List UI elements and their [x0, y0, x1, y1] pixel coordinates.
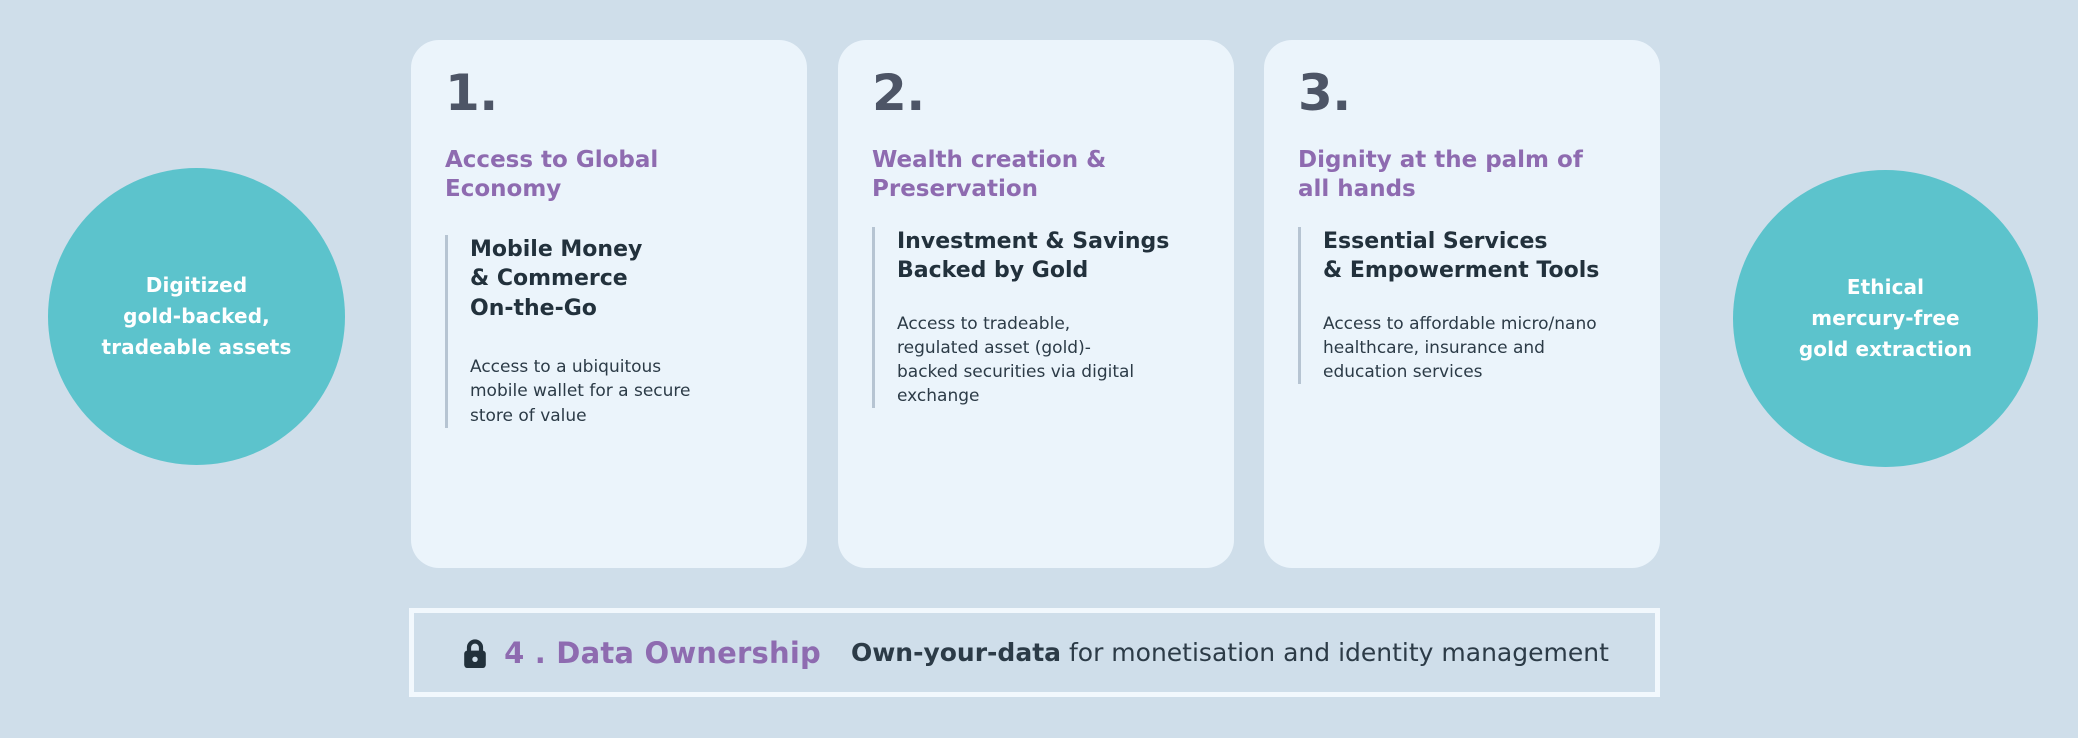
pillar-1-heading: Access to Global Economy — [445, 146, 773, 205]
pillar-card-2: 2. Wealth creation & Preservation Invest… — [838, 40, 1234, 568]
pillar-3-number: 3. — [1298, 68, 1626, 118]
circle-digitized-assets: Digitized gold-backed, tradeable assets — [48, 168, 345, 465]
pillar-1-detail-title: Mobile Money & Commerce On-the-Go — [470, 235, 773, 323]
pillar-card-1: 1. Access to Global Economy Mobile Money… — [411, 40, 807, 568]
pillar-3-detail-body: Access to affordable micro/nano healthca… — [1323, 312, 1626, 384]
pillar-1-number: 1. — [445, 68, 773, 118]
banner-number-label: 4 . Data Ownership — [504, 636, 821, 670]
infographic-canvas: Digitized gold-backed, tradeable assets … — [0, 0, 2078, 738]
circle-ethical-extraction: Ethical mercury-free gold extraction — [1733, 170, 2038, 467]
banner-rest: for monetisation and identity management — [1061, 638, 1609, 667]
pillar-1-detail-body: Access to a ubiquitous mobile wallet for… — [470, 355, 773, 427]
pillar-3-detail-title: Essential Services & Empowerment Tools — [1323, 227, 1626, 286]
lock-icon — [460, 638, 490, 670]
pillar-3-detail: Essential Services & Empowerment Tools A… — [1298, 227, 1626, 384]
pillar-2-number: 2. — [872, 68, 1200, 118]
banner-emphasis: Own-your-data — [851, 638, 1061, 667]
pillar-1-detail: Mobile Money & Commerce On-the-Go Access… — [445, 235, 773, 428]
pillar-2-heading: Wealth creation & Preservation — [872, 146, 1200, 205]
circle-right-label: Ethical mercury-free gold extraction — [1781, 272, 1990, 365]
banner-description: Own-your-data for monetisation and ident… — [851, 638, 1609, 667]
pillar-2-detail-title: Investment & Savings Backed by Gold — [897, 227, 1200, 286]
pillar-3-heading: Dignity at the palm of all hands — [1298, 146, 1626, 205]
pillar-2-detail-body: Access to tradeable, regulated asset (go… — [897, 312, 1200, 409]
pillar-2-detail: Investment & Savings Backed by Gold Acce… — [872, 227, 1200, 408]
pillar-card-3: 3. Dignity at the palm of all hands Esse… — [1264, 40, 1660, 568]
circle-left-label: Digitized gold-backed, tradeable assets — [84, 270, 310, 363]
data-ownership-banner: 4 . Data Ownership Own-your-data for mon… — [409, 608, 1660, 697]
